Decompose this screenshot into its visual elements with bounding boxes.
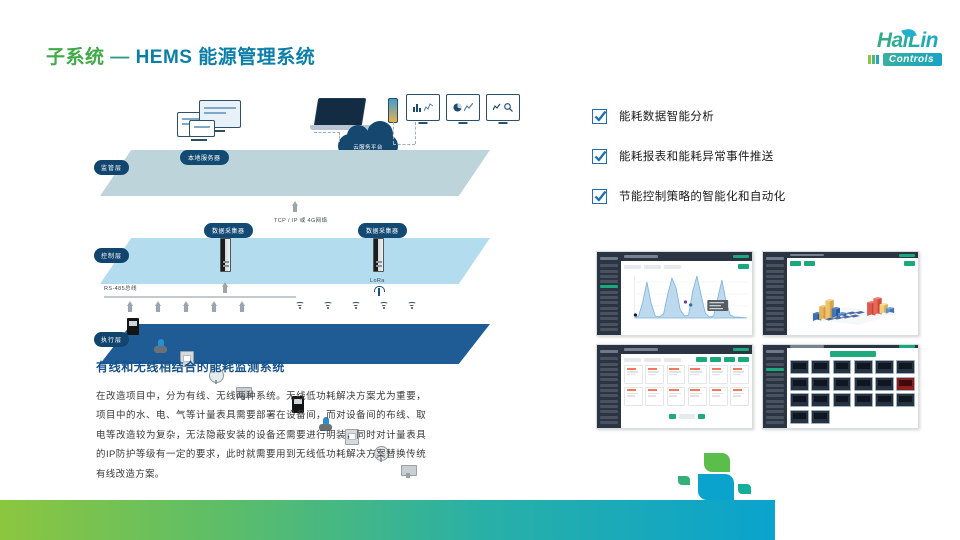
- screenshot-content: [787, 258, 918, 335]
- management-layer-slab: [100, 150, 490, 196]
- data-collector-device: [220, 238, 231, 272]
- footer-gradient-bar: [0, 500, 775, 540]
- local-server-monitors: [177, 96, 252, 144]
- device-tile[interactable]: [811, 377, 830, 391]
- decorative-leaf-green-large: [704, 453, 730, 472]
- screenshot-sidebar: [597, 252, 621, 335]
- dashboard-screenshot-gallery: [596, 251, 920, 437]
- device-tile[interactable]: [811, 360, 830, 374]
- list-item[interactable]: [730, 365, 749, 384]
- list-item[interactable]: [709, 365, 728, 384]
- checklist-item-label: 节能控制策略的智能化和自动化: [619, 188, 786, 204]
- connector-line: [415, 122, 416, 144]
- brand-tagline-row: Controls: [820, 53, 942, 66]
- device-tile[interactable]: [811, 410, 830, 424]
- screenshot-content: [787, 348, 918, 429]
- electric-meter-icon: [127, 318, 139, 335]
- page-title-dash: —: [110, 47, 130, 68]
- device-tile[interactable]: [811, 393, 830, 407]
- checklist-item-label: 能耗报表和能耗异常事件推送: [619, 148, 774, 164]
- list-item[interactable]: [730, 387, 749, 406]
- device-tile[interactable]: [854, 393, 873, 407]
- device-tile[interactable]: [896, 360, 915, 374]
- label-cloud-platform: 云服务平台: [338, 143, 398, 151]
- lora-antenna-icon: [374, 286, 384, 296]
- decorative-shape-cyan: [698, 474, 734, 500]
- device-tile[interactable]: [875, 360, 894, 374]
- device-tile-grid: [790, 360, 915, 424]
- device-tile[interactable]: [854, 360, 873, 374]
- checklist-item[interactable]: 节能控制策略的智能化和自动化: [592, 188, 922, 204]
- connector-line: [393, 122, 394, 144]
- layer-tag-management: 监管层: [94, 160, 129, 175]
- checklist-item[interactable]: 能耗数据智能分析: [592, 108, 922, 124]
- wifi-icon: [351, 302, 360, 310]
- list-item[interactable]: [667, 365, 686, 384]
- bar-tick-icon: [876, 55, 879, 64]
- screenshot-sidebar: [597, 345, 621, 428]
- brand-logo: HaiLin Controls: [820, 30, 942, 66]
- wifi-icon: [323, 302, 332, 310]
- wifi-icon: [379, 302, 388, 310]
- list-item[interactable]: [624, 387, 643, 406]
- layer-tag-execution: 执行层: [94, 332, 129, 347]
- screenshot-sidebar: [763, 252, 787, 335]
- analytics-monitor-icon: [486, 94, 520, 121]
- monitor-icon: [189, 120, 215, 137]
- screenshot-energy-trend-chart[interactable]: [596, 251, 753, 336]
- list-item[interactable]: [667, 387, 686, 406]
- screenshot-3d-bar-chart[interactable]: [762, 251, 919, 336]
- brand-subtitle: Controls: [883, 53, 942, 66]
- checklist-item[interactable]: 能耗报表和能耗异常事件推送: [592, 148, 922, 164]
- screenshot-device-tile-monitor[interactable]: [762, 344, 919, 429]
- checklist-item-label: 能耗数据智能分析: [619, 108, 714, 124]
- pie-chart-monitor-icon: [446, 94, 480, 121]
- list-item[interactable]: [688, 387, 707, 406]
- client-monitor-icons: [406, 94, 520, 121]
- device-tile[interactable]: [833, 393, 852, 407]
- decorative-leaf-teal-small: [678, 476, 690, 485]
- brand-name: HaiLin: [820, 30, 942, 51]
- wifi-icon: [407, 302, 416, 310]
- page-title: 子系统 — HEMS 能源管理系统: [46, 42, 315, 69]
- device-tile[interactable]: [833, 377, 852, 391]
- pagination-prev[interactable]: [669, 414, 676, 419]
- label-lora: LoRa: [370, 278, 385, 284]
- connector-line: [339, 132, 340, 142]
- device-tile[interactable]: [790, 393, 809, 407]
- bar-chart-monitor-icon: [406, 94, 440, 121]
- bar-tick-icon: [872, 55, 875, 64]
- bar-chart-3d: [790, 269, 915, 327]
- list-item[interactable]: [645, 387, 664, 406]
- layer-tag-control: 控制层: [94, 248, 129, 263]
- list-item[interactable]: [709, 387, 728, 406]
- label-collector-left: 数据采集器: [204, 223, 253, 238]
- device-tile[interactable]: [896, 393, 915, 407]
- feature-checklist: 能耗数据智能分析 能耗报表和能耗异常事件推送 节能控制策略的智能化和自动化: [592, 108, 922, 228]
- description-block: 有线和无线相结合的能耗监测系统 在改造项目中，分为有线、无线两种系统。无线低功耗…: [96, 358, 426, 484]
- device-tile-alarm[interactable]: [896, 377, 915, 391]
- page-title-prefix: 子系统: [46, 47, 105, 68]
- label-local-server: 本地服务器: [180, 150, 229, 165]
- architecture-diagram: 本地服务器 云服务平台 监管层 控制层 执行层 TCP / IP 或 4G网络: [92, 86, 522, 346]
- list-item[interactable]: [624, 365, 643, 384]
- section-banner: [830, 351, 876, 357]
- pagination-next[interactable]: [698, 414, 705, 419]
- device-tile[interactable]: [790, 377, 809, 391]
- control-layer-slab: [100, 238, 490, 284]
- checkbox-checked-icon[interactable]: [592, 149, 607, 164]
- device-tile[interactable]: [833, 360, 852, 374]
- device-tile[interactable]: [875, 393, 894, 407]
- data-collector-device: [373, 238, 384, 272]
- device-tile[interactable]: [854, 377, 873, 391]
- screenshot-content: [621, 261, 752, 335]
- list-item[interactable]: [688, 365, 707, 384]
- list-item[interactable]: [645, 365, 664, 384]
- decorative-shape-teal: [738, 484, 751, 494]
- checkbox-checked-icon[interactable]: [592, 109, 607, 124]
- area-chart: [624, 272, 749, 324]
- screenshot-device-card-list[interactable]: [596, 344, 753, 429]
- bar-tick-icon: [868, 55, 871, 64]
- checkbox-checked-icon[interactable]: [592, 189, 607, 204]
- card-grid: [624, 365, 749, 406]
- screenshot-topbar: [621, 252, 752, 261]
- page-title-main: HEMS 能源管理系统: [136, 47, 316, 68]
- screenshot-topbar: [621, 345, 752, 354]
- label-network: TCP / IP 或 4G网络: [274, 216, 327, 224]
- screenshot-content: [621, 354, 752, 428]
- pagination-pages[interactable]: [679, 414, 695, 419]
- device-tile[interactable]: [875, 377, 894, 391]
- water-sensor-icon: [154, 339, 167, 353]
- rs485-bus-line: [104, 296, 296, 298]
- description-heading: 有线和无线相结合的能耗监测系统: [96, 358, 426, 375]
- label-collector-right: 数据采集器: [358, 223, 407, 238]
- wifi-icon: [295, 302, 304, 310]
- description-paragraph: 在改造项目中，分为有线、无线两种系统。无线低功耗解决方案尤为重要，项目中的水、电…: [96, 387, 426, 484]
- connector-line: [314, 132, 340, 133]
- smartphone-icon: [388, 98, 398, 123]
- label-rs485-bus: RS-485总线: [104, 284, 137, 292]
- device-tile[interactable]: [790, 410, 809, 424]
- screenshot-sidebar: [763, 345, 787, 428]
- device-tile[interactable]: [790, 360, 809, 374]
